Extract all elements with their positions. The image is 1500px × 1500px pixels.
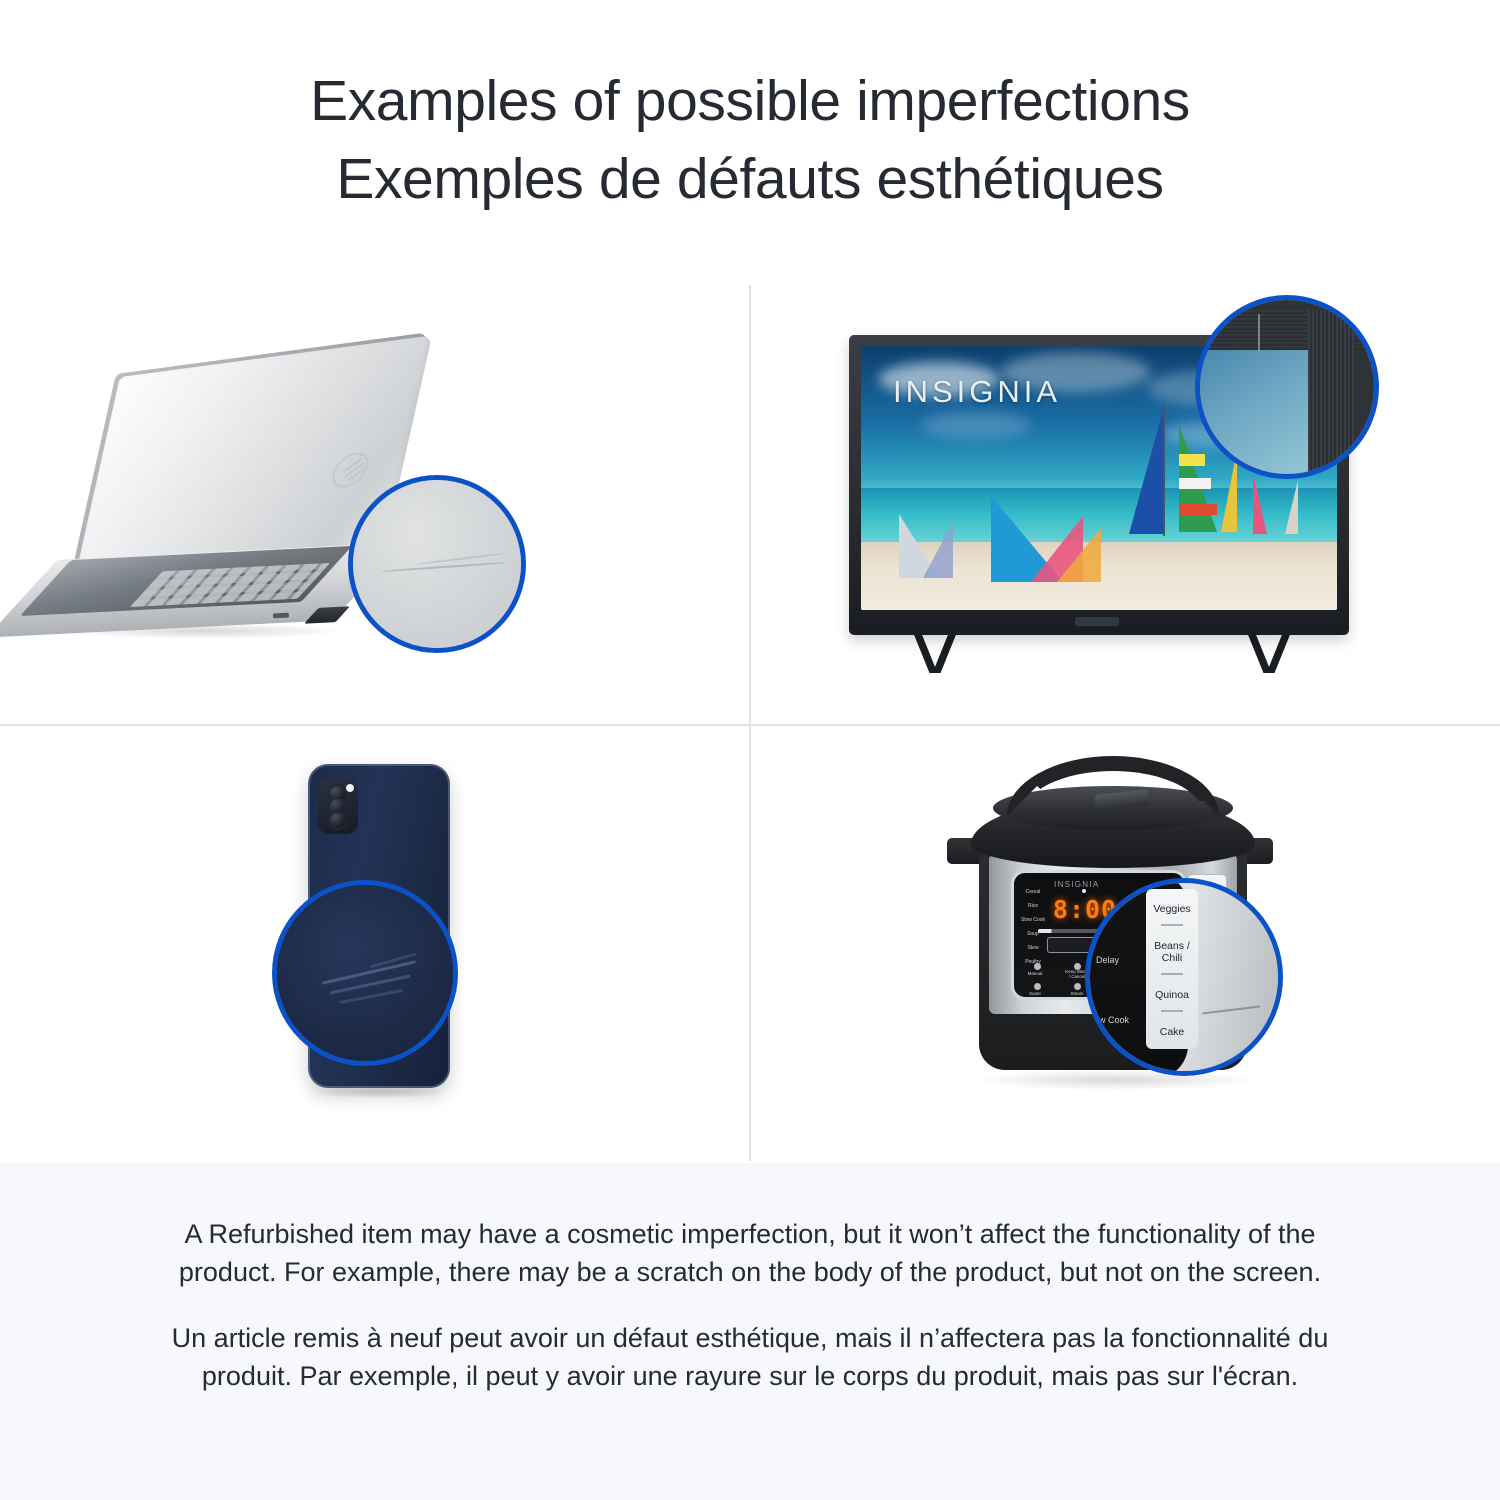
laptop-magnifier-circle — [348, 475, 526, 653]
example-cell-television: INSIGNIA — [751, 283, 1500, 724]
cooker-key-column-left[interactable]: Cereal Rice Slow Cook Soup Stew Poultry — [1018, 887, 1048, 966]
laptop-port — [273, 613, 289, 619]
cooker-magnified-key: Veggies — [1146, 903, 1198, 915]
page-title: Examples of possible imperfections Exemp… — [0, 62, 1500, 218]
cooker-magnified-separator — [1161, 973, 1183, 975]
tv-screen-brand-logo: INSIGNIA — [893, 374, 1061, 410]
cooker-shadow — [975, 1070, 1255, 1090]
cooker-button-icon[interactable] — [1034, 963, 1041, 970]
pressure-cooker-illustration: INSIGNIA 8:00 Cereal Rice Slow Cook Soup… — [751, 726, 1500, 1167]
cooker-magnified-key: Beans / Chili — [1146, 940, 1198, 964]
tv-sail-blue — [1129, 410, 1163, 534]
cooker-magnified-separator — [1161, 924, 1183, 926]
tv-foot-right — [1247, 631, 1272, 673]
tv-foot-left — [933, 631, 958, 673]
cooker-button-icon[interactable] — [1074, 983, 1081, 990]
example-cell-laptop — [0, 283, 749, 724]
tv-sail-cream — [1285, 480, 1298, 534]
tv-magnifier-circle — [1195, 295, 1379, 479]
cooker-magnified-key-strip: Veggies Beans / Chili Quinoa Cake — [1146, 889, 1198, 1049]
cooker-key[interactable]: Slow Cook — [1018, 915, 1048, 924]
cooker-key[interactable]: Stew — [1018, 943, 1048, 952]
cooker-key[interactable]: Cereal — [1018, 887, 1048, 896]
tv-sail-pink — [1253, 472, 1267, 534]
cooker-button-label: Saute — [1022, 991, 1048, 996]
tv-magnified-bezel-right — [1308, 310, 1354, 479]
smartphone-illustration — [0, 726, 749, 1167]
phone-camera-lens-icon — [328, 811, 347, 830]
cooker-key[interactable]: Rice — [1018, 901, 1048, 910]
caption-english: A Refurbished item may have a cosmetic i… — [168, 1215, 1332, 1291]
television-illustration: INSIGNIA — [751, 283, 1500, 724]
examples-grid: INSIGNIA — [0, 283, 1500, 1163]
title-english: Examples of possible imperfections — [0, 62, 1500, 140]
cooker-magnified-label: Delay — [1096, 955, 1119, 966]
cooker-magnified-separator — [1161, 1010, 1183, 1012]
cooker-status-led-icon — [1082, 889, 1086, 893]
tv-stand-right — [1267, 631, 1292, 673]
phone-flash-icon — [346, 784, 354, 792]
cooker-carry-handle — [1007, 756, 1219, 816]
tv-front-badge — [1075, 617, 1119, 626]
tv-mast-blue — [1163, 404, 1165, 536]
cooker-button-icon[interactable] — [1034, 983, 1041, 990]
tv-sail-foreground-orange — [1057, 528, 1101, 582]
tv-magnified-screen-edge — [1195, 348, 1324, 479]
cooker-magnified-label: Slow Cook — [1086, 1015, 1129, 1026]
title-french: Exemples de défauts esthétiques — [0, 140, 1500, 218]
example-cell-pressure-cooker: INSIGNIA 8:00 Cereal Rice Slow Cook Soup… — [751, 726, 1500, 1167]
phone-camera-module — [318, 778, 358, 834]
cooker-magnifier-circle: Delay Slow Cook Veggies Beans / Chili Qu… — [1085, 878, 1283, 1076]
tv-scuff-mark — [1258, 314, 1260, 352]
tv-sail-stripe-red — [1179, 504, 1217, 515]
cooker-magnified-key: Cake — [1146, 1026, 1198, 1038]
example-cell-smartphone — [0, 726, 749, 1167]
caption-panel: A Refurbished item may have a cosmetic i… — [0, 1163, 1500, 1500]
caption-french: Un article remis à neuf peut avoir un dé… — [168, 1319, 1332, 1395]
tv-sail-foreground-lilac — [923, 522, 953, 578]
laptop-magnified-surface — [353, 480, 521, 648]
tv-sail-stripe-white — [1179, 478, 1211, 489]
laptop-illustration — [0, 283, 749, 724]
phone-magnifier-circle — [272, 880, 458, 1066]
cooker-magnified-key: Quinoa — [1146, 989, 1198, 1001]
imperfections-infographic: Examples of possible imperfections Exemp… — [0, 0, 1500, 1500]
cooker-button-label: Manual — [1022, 971, 1048, 976]
cooker-key[interactable]: Soup — [1018, 929, 1048, 938]
